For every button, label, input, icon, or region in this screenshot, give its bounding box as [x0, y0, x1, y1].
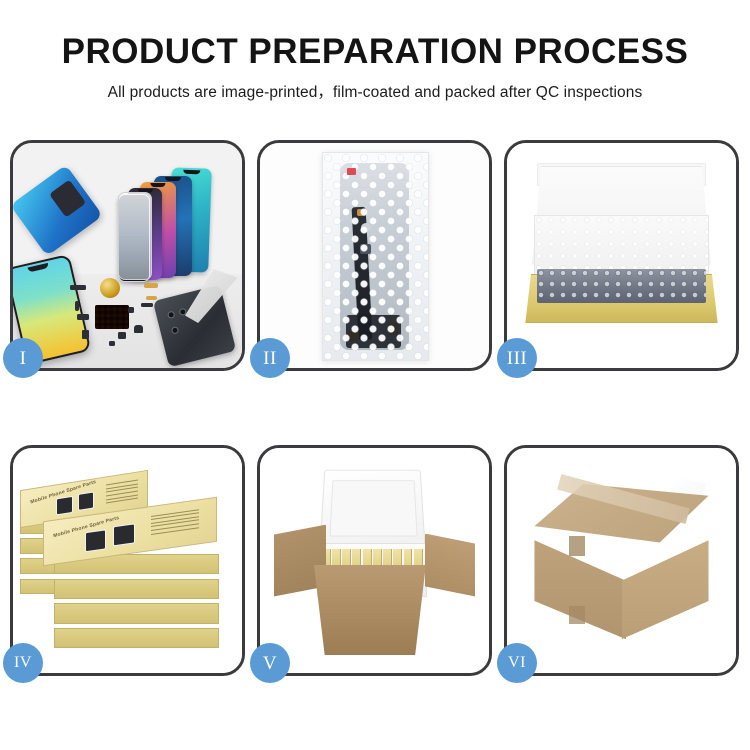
step-panel-4: Mobile Phone Spare Parts Mobile	[10, 445, 245, 676]
carton-flap-right	[425, 534, 475, 597]
steps-grid: I	[10, 140, 740, 676]
carton-body	[310, 565, 429, 655]
gold-contact-tab	[357, 209, 366, 216]
box-stack-side	[54, 628, 219, 648]
flex-cable-part	[144, 283, 158, 288]
chip-part	[77, 314, 89, 320]
step-badge-1: I	[3, 338, 43, 378]
ic-chip-grid-icon	[95, 305, 129, 329]
step-image-1	[13, 143, 242, 368]
step-badge-4: IV	[3, 643, 43, 683]
connector-pad	[346, 315, 401, 348]
step-image-5	[260, 448, 489, 673]
chip-part	[70, 285, 86, 290]
step-image-6	[507, 448, 736, 673]
page-title: PRODUCT PREPARATION PROCESS	[0, 34, 750, 71]
page-subtitle: All products are image-printed，film-coat…	[0, 80, 750, 102]
step-panel-6: VI	[504, 445, 739, 676]
foam-lid	[319, 470, 425, 547]
step-badge-5: V	[250, 643, 290, 683]
bubble-wrap-bag	[322, 152, 430, 361]
box-screen-thumb	[113, 523, 135, 546]
box-stack-side	[54, 603, 219, 623]
flex-cable-part	[75, 301, 79, 311]
step-badge-6: VI	[497, 643, 537, 683]
carton-seal-upper	[569, 536, 585, 556]
chip-part	[118, 332, 126, 339]
bubble-wrapped-contents	[537, 269, 706, 303]
connector-pad	[360, 244, 371, 254]
step-badge-3: III	[497, 338, 537, 378]
step-panel-1: I	[10, 140, 245, 371]
step-panel-3: III	[504, 140, 739, 371]
step-image-3	[507, 143, 736, 368]
step-image-2	[260, 143, 489, 368]
box-spec-lines	[105, 479, 138, 506]
step-panel-2: II	[257, 140, 492, 371]
chip-part	[141, 303, 153, 307]
box-screen-thumb	[78, 490, 94, 510]
header: PRODUCT PREPARATION PROCESS All products…	[0, 0, 750, 102]
product-preparation-infographic: PRODUCT PREPARATION PROCESS All products…	[0, 0, 750, 750]
screen-protector-glass	[118, 192, 152, 280]
box-spec-lines	[150, 509, 198, 537]
box-screen-thumb	[85, 529, 106, 552]
phone-fan-group	[118, 166, 242, 283]
chip-part	[128, 307, 134, 313]
chip-part	[109, 341, 115, 346]
red-qc-sticker	[347, 168, 356, 175]
carton-seal-lower	[569, 606, 585, 624]
box-stack-side	[54, 579, 219, 599]
step-panel-5: V	[257, 445, 492, 676]
wireless-charging-coil-icon	[100, 278, 120, 298]
flex-cable-part	[146, 296, 157, 300]
box-screen-thumb	[56, 495, 72, 515]
step-badge-2: II	[250, 338, 290, 378]
chip-part	[134, 325, 143, 333]
chip-part	[82, 330, 89, 339]
step-image-4: Mobile Phone Spare Parts Mobile	[13, 448, 242, 673]
